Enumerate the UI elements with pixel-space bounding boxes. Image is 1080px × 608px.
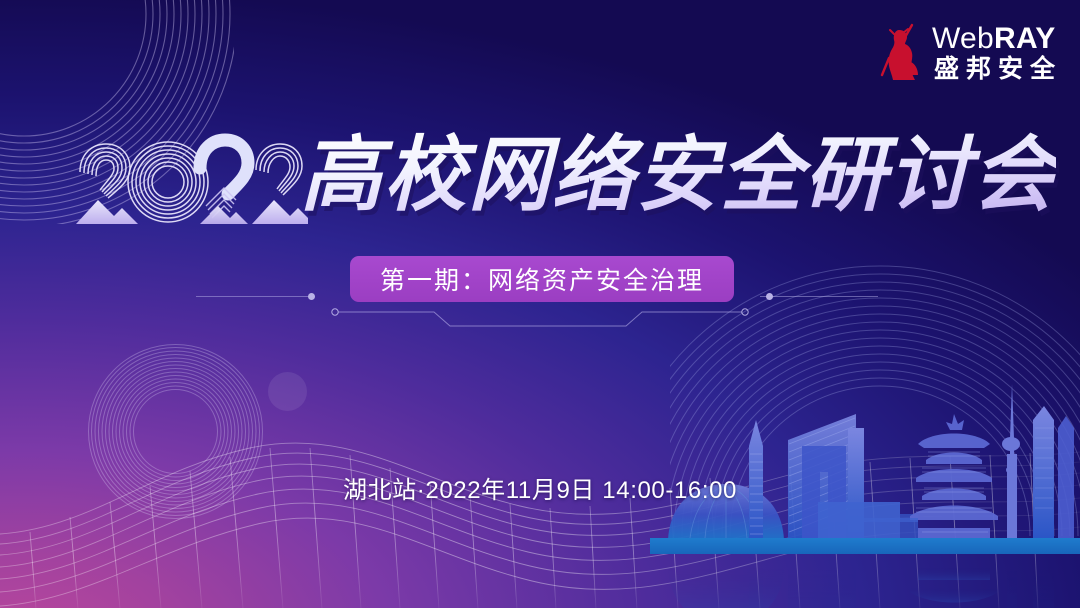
logo-english-ray: RAY [994,22,1056,55]
subtitle-row: 第一期：网络资产安全治理 [0,248,1080,320]
logo-english-web: Web [932,22,994,55]
event-date-line: 湖北站·2022年11月9日 14:00-16:00 [0,470,1080,505]
session-subtitle-text: 第一期：网络资产安全治理 [380,261,704,297]
session-subtitle-pill: 第一期：网络资产安全治理 [350,256,734,302]
event-poster: WebRAY 盛邦安全 [0,0,1080,608]
webray-warrior-icon [877,22,923,84]
logo-wordmark: WebRAY 盛邦安全 [932,24,1062,82]
webray-logo: WebRAY 盛邦安全 [877,22,1062,84]
logo-english: WebRAY [932,24,1062,54]
year-2022-graphic [72,128,308,232]
subtitle-rule-left [196,296,314,297]
subtitle-dot-left [308,293,315,300]
headline-block: 高校网络安全研讨会 [0,128,1080,232]
notched-divider-decoration [326,304,754,330]
subtitle-dot-right [766,293,773,300]
logo-chinese: 盛邦安全 [932,57,1062,82]
page-title: 高校网络安全研讨会 [300,124,1056,228]
subtitle-rule-right [760,296,878,297]
